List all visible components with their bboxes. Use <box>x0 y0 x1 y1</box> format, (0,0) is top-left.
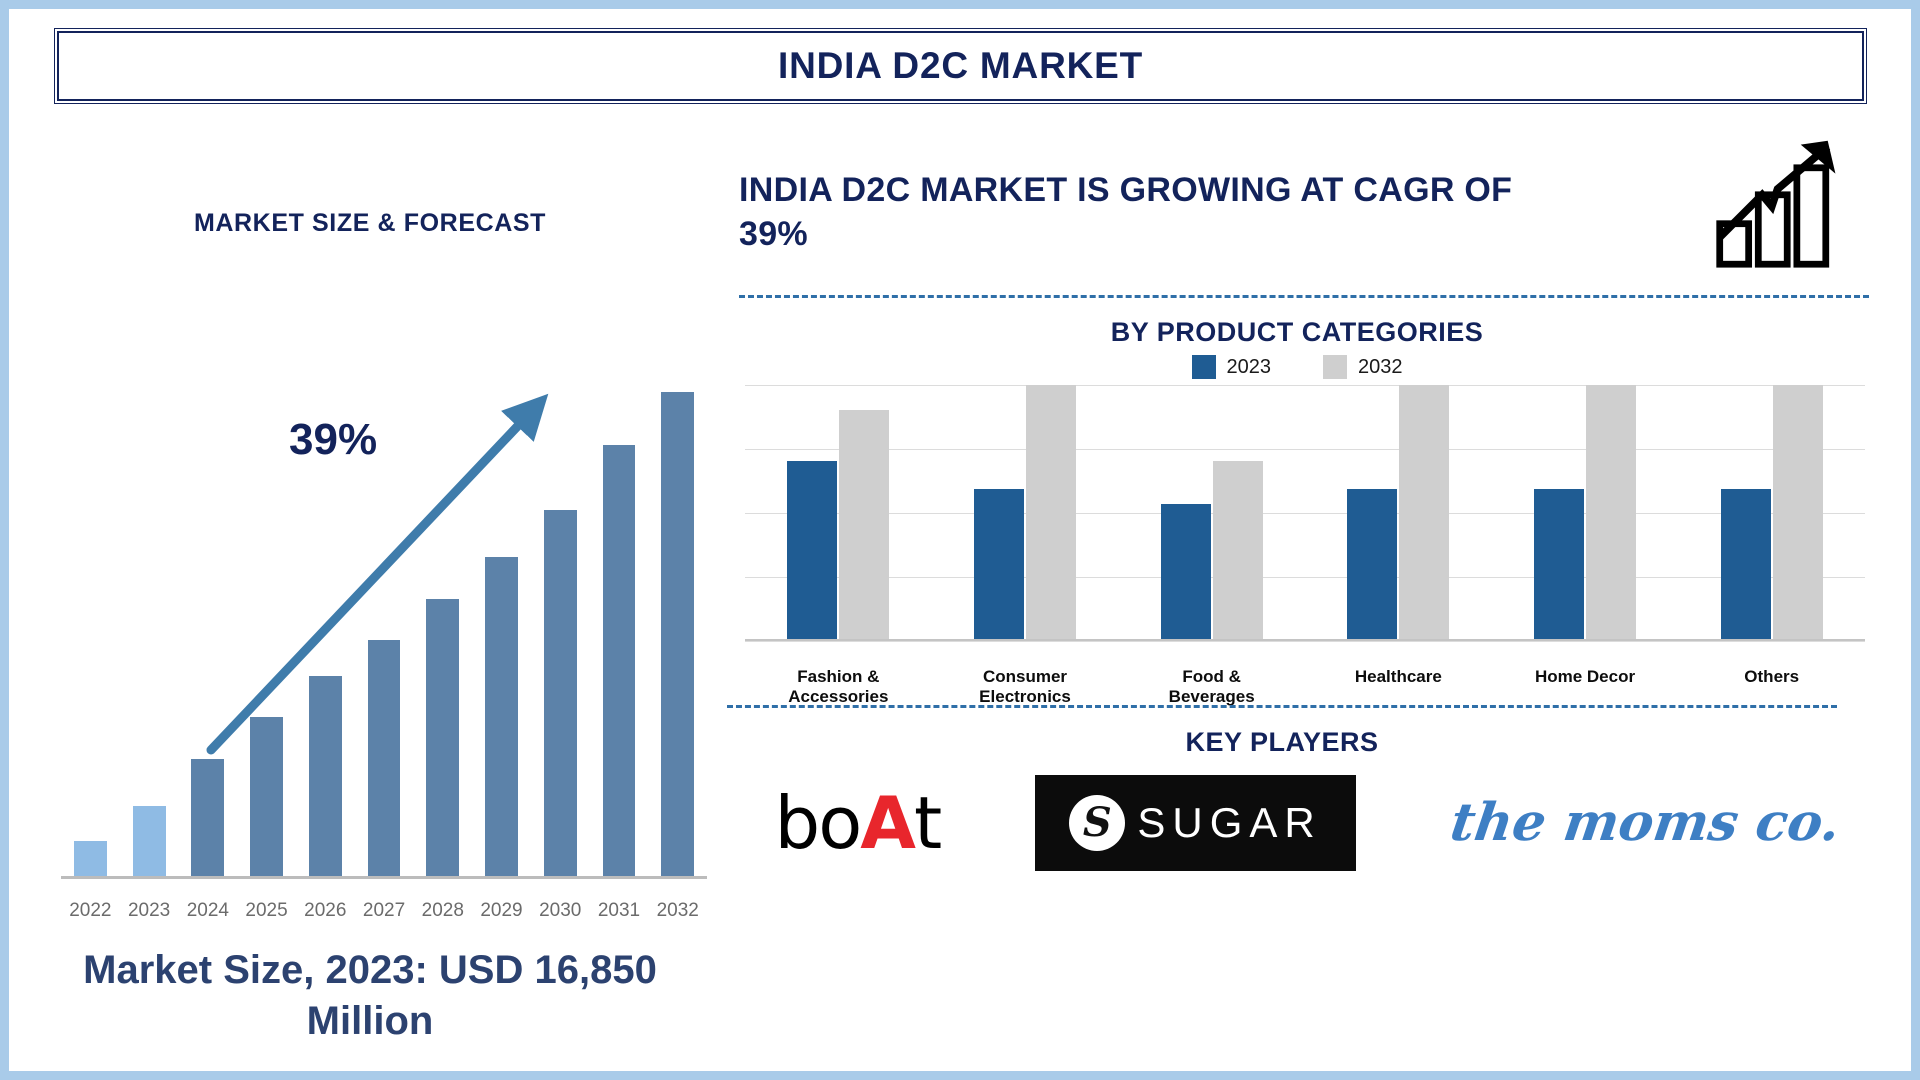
growth-headline: INDIA D2C MARKET IS GROWING AT CAGR OF 3… <box>739 169 1569 256</box>
category-bar <box>1399 385 1449 639</box>
forecast-x-axis <box>61 876 707 879</box>
chart-baseline <box>745 639 1865 641</box>
legend-label: 2023 <box>1227 356 1272 379</box>
category-label: ConsumerElectronics <box>932 667 1119 708</box>
forecast-bar <box>544 510 577 877</box>
legend-swatch <box>1323 355 1347 379</box>
market-size-forecast-chart: 2022202320242025202620272028202920302031… <box>39 287 711 997</box>
forecast-year-label: 2032 <box>648 900 707 922</box>
category-label: Home Decor <box>1492 667 1679 708</box>
forecast-bar-column <box>237 285 296 877</box>
forecast-plot-area: 2022202320242025202620272028202920302031… <box>57 287 711 994</box>
market-size-forecast-panel: MARKET SIZE & FORECAST 20222023202420252… <box>29 159 711 1049</box>
category-bar <box>1213 461 1263 639</box>
category-bar <box>1586 385 1636 639</box>
category-bar <box>787 461 837 639</box>
forecast-year-label: 2024 <box>178 900 237 922</box>
forecast-bar-column <box>61 285 120 877</box>
market-size-forecast-title: MARKET SIZE & FORECAST <box>29 209 711 238</box>
forecast-year-labels: 2022202320242025202620272028202920302031… <box>57 900 711 922</box>
category-bar <box>1347 489 1397 639</box>
divider-top <box>739 295 1869 298</box>
forecast-bar-column <box>355 285 414 877</box>
product-categories-chart: Fashion &AccessoriesConsumerElectronicsF… <box>745 385 1865 665</box>
forecast-bar <box>603 445 636 877</box>
chart-legend: 20232032 <box>727 355 1867 379</box>
category-label-line: Food & <box>1118 667 1305 687</box>
forecast-bar <box>133 806 166 877</box>
by-product-categories-title: BY PRODUCT CATEGORIES <box>727 317 1867 348</box>
page-title: INDIA D2C MARKET <box>778 45 1143 87</box>
bar-group <box>745 385 932 639</box>
category-bar <box>1534 489 1584 639</box>
forecast-bar <box>426 599 459 877</box>
legend-item[interactable]: 2023 <box>1192 355 1272 379</box>
forecast-bar <box>368 640 401 877</box>
title-box: INDIA D2C MARKET <box>57 31 1864 101</box>
category-label: Healthcare <box>1305 667 1492 708</box>
category-label-line: Fashion & <box>745 667 932 687</box>
forecast-bar-column <box>120 285 179 877</box>
category-bar <box>1773 385 1823 639</box>
forecast-year-label: 2031 <box>590 900 649 922</box>
forecast-year-label: 2030 <box>531 900 590 922</box>
category-label-line: Consumer <box>932 667 1119 687</box>
sugar-mark-icon: S <box>1069 795 1125 851</box>
category-bar <box>1026 385 1076 639</box>
forecast-bar-column <box>590 285 649 877</box>
forecast-year-label: 2029 <box>472 900 531 922</box>
logo-boat-part3: t <box>914 781 940 865</box>
bar-group <box>1492 385 1679 639</box>
logo-boat-part1: bo <box>775 781 861 865</box>
forecast-bar <box>485 557 518 877</box>
bar-group <box>1678 385 1865 639</box>
forecast-bars <box>57 285 711 877</box>
legend-swatch <box>1192 355 1216 379</box>
cagr-annotation: 39% <box>289 415 377 465</box>
growth-bar-chart-arrow-icon <box>1712 135 1847 270</box>
forecast-year-label: 2025 <box>237 900 296 922</box>
category-label-line: Home Decor <box>1492 667 1679 687</box>
chart-category-labels: Fashion &AccessoriesConsumerElectronicsF… <box>745 667 1865 708</box>
category-label: Others <box>1678 667 1865 708</box>
bar-group <box>932 385 1119 639</box>
logo-the-moms-co: the moms co. <box>1447 797 1843 849</box>
forecast-year-label: 2026 <box>296 900 355 922</box>
forecast-bar-column <box>296 285 355 877</box>
bar-group <box>1305 385 1492 639</box>
logo-sugar: S SUGAR <box>1035 775 1355 871</box>
legend-label: 2032 <box>1358 356 1403 379</box>
divider-bottom <box>727 705 1837 708</box>
forecast-year-label: 2028 <box>413 900 472 922</box>
logo-boat-part2: A <box>860 781 914 865</box>
forecast-year-label: 2023 <box>120 900 179 922</box>
forecast-bar <box>191 759 224 877</box>
category-bar <box>974 489 1024 639</box>
bar-group <box>1118 385 1305 639</box>
forecast-bar-column <box>531 285 590 877</box>
category-label: Food &Beverages <box>1118 667 1305 708</box>
category-bar <box>1161 504 1211 639</box>
forecast-bar-column <box>413 285 472 877</box>
forecast-bar-column <box>472 285 531 877</box>
key-players-title: KEY PLAYERS <box>727 727 1837 758</box>
infographic-page: INDIA D2C MARKET MARKET SIZE & FORECAST … <box>0 0 1920 1080</box>
forecast-bar <box>74 841 107 877</box>
category-bar <box>839 410 889 639</box>
key-players-row: boAt S SUGAR the moms co. <box>727 775 1887 871</box>
chart-bar-groups <box>745 385 1865 639</box>
forecast-bar <box>250 717 283 877</box>
forecast-bar-column <box>648 285 707 877</box>
category-label-line: Others <box>1678 667 1865 687</box>
forecast-year-label: 2027 <box>355 900 414 922</box>
forecast-bar <box>309 676 342 877</box>
legend-item[interactable]: 2032 <box>1323 355 1403 379</box>
market-size-caption: Market Size, 2023: USD 16,850 Million <box>29 945 711 1047</box>
gridline <box>745 641 1865 642</box>
category-label: Fashion &Accessories <box>745 667 932 708</box>
logo-boat: boAt <box>775 787 941 859</box>
right-panel: INDIA D2C MARKET IS GROWING AT CAGR OF 3… <box>727 127 1887 1057</box>
logo-sugar-wordmark: SUGAR <box>1137 799 1321 847</box>
forecast-bar-column <box>178 285 237 877</box>
category-label-line: Healthcare <box>1305 667 1492 687</box>
forecast-bar <box>661 392 694 877</box>
forecast-year-label: 2022 <box>61 900 120 922</box>
category-bar <box>1721 489 1771 639</box>
